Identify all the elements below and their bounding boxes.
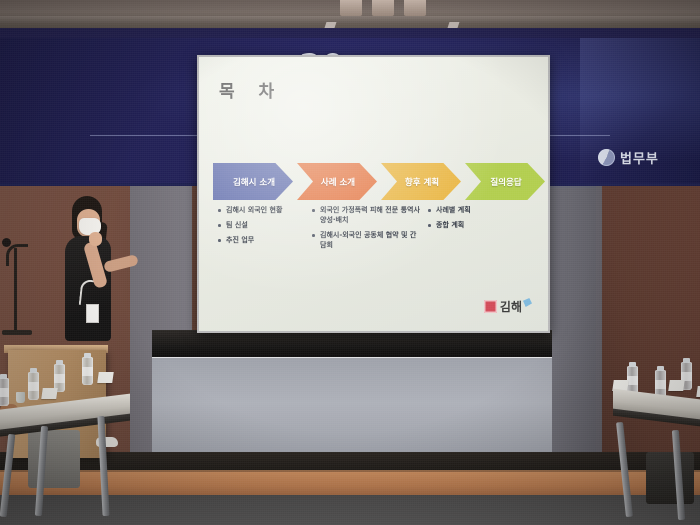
ceiling-light [404,0,426,16]
step-4-label: 질의응답 [490,176,521,188]
ceiling-strip [0,16,700,23]
gimhae-city-logo: 김해 [484,298,532,315]
name-badge [86,304,99,323]
microphone-stand-pole [14,248,17,332]
name-card [97,372,114,383]
table-leg [616,422,633,517]
step-1-chevron: 김해시 소개 [213,163,293,200]
wall-panel-center [152,358,552,458]
microphone-stand-base [2,330,32,335]
bullet-item: 외국인 가정폭력 피해 전문 통역사 양성·배치 [311,205,421,225]
bottle-label [655,380,666,389]
bullet-item: 추진 업무 [217,235,309,245]
step-4: Step 4 질의응답 [465,163,545,200]
microphone-stand-arm [6,244,28,266]
ministry-label: 법무부 [620,148,659,167]
step-2: Step 2 사례 소개 [297,163,377,200]
bullet-column-1: 김해시 외국인 현황 팀 신설 추진 업무 [217,205,309,250]
gimhae-mark-icon [523,298,532,307]
table-right [613,388,700,525]
bullet-item: 팀 신설 [217,220,309,230]
bullet-column-3: 사례별 계획 종합 계획 [427,205,517,235]
ceiling-light [340,0,362,16]
name-card [668,380,685,391]
ceiling-light [372,0,394,16]
gimhae-logo-text: 김해 [500,298,522,315]
bullet-item: 사례별 계획 [427,205,517,215]
step-4-chevron: 질의응답 [465,163,545,200]
step-3: Step 3 향후 계획 [381,163,461,200]
name-card [696,386,700,397]
table-leg [672,430,685,520]
presenter-hand [89,232,102,246]
bottle-label [0,388,9,397]
bullet-item: 김해시-외국인 공동체 협약 및 간담회 [311,230,421,250]
presenter [56,196,130,366]
step-2-label: 사례 소개 [321,176,355,188]
presentation-slide: 목 차 Step 1 김해시 소개 Step 2 사례 소개 Step 3 [199,57,548,331]
taegeuk-icon [598,149,615,166]
step-3-chevron: 향후 계획 [381,163,461,200]
step-3-label: 향후 계획 [405,176,439,188]
name-card [41,388,58,399]
table-leg [97,416,109,516]
table-leg [35,426,48,516]
bullet-column-2: 외국인 가정폭력 피해 전문 통역사 양성·배치 김해시-외국인 공동체 협약 … [311,205,421,256]
step-chevron-row: Step 1 김해시 소개 Step 2 사례 소개 Step 3 향후 계획 [213,149,543,201]
bottle-label [28,382,39,391]
table-left [0,392,134,525]
projection-screen: 목 차 Step 1 김해시 소개 Step 2 사례 소개 Step 3 [197,55,550,333]
seal-icon [484,300,497,313]
ministry-of-justice-logo: 법무부 [598,148,659,167]
paper-cup [16,392,25,403]
slide-title: 목 차 [219,77,283,102]
conference-room-photo: 20○○ (부산·대구 … 제 일정 7월 14 법무부 목 차 Step 1 … [0,0,700,525]
ceiling [0,0,700,30]
step-1-label: 김해시 소개 [233,176,275,188]
step-1: Step 1 김해시 소개 [213,163,293,200]
bullet-item: 김해시 외국인 현황 [217,205,309,215]
screen-shadow-band [152,330,552,358]
bottle-label [82,367,93,376]
step-2-chevron: 사례 소개 [297,163,377,200]
bullet-item: 종합 계획 [427,220,517,230]
bottle-label [54,374,65,383]
table-leg [0,434,15,517]
